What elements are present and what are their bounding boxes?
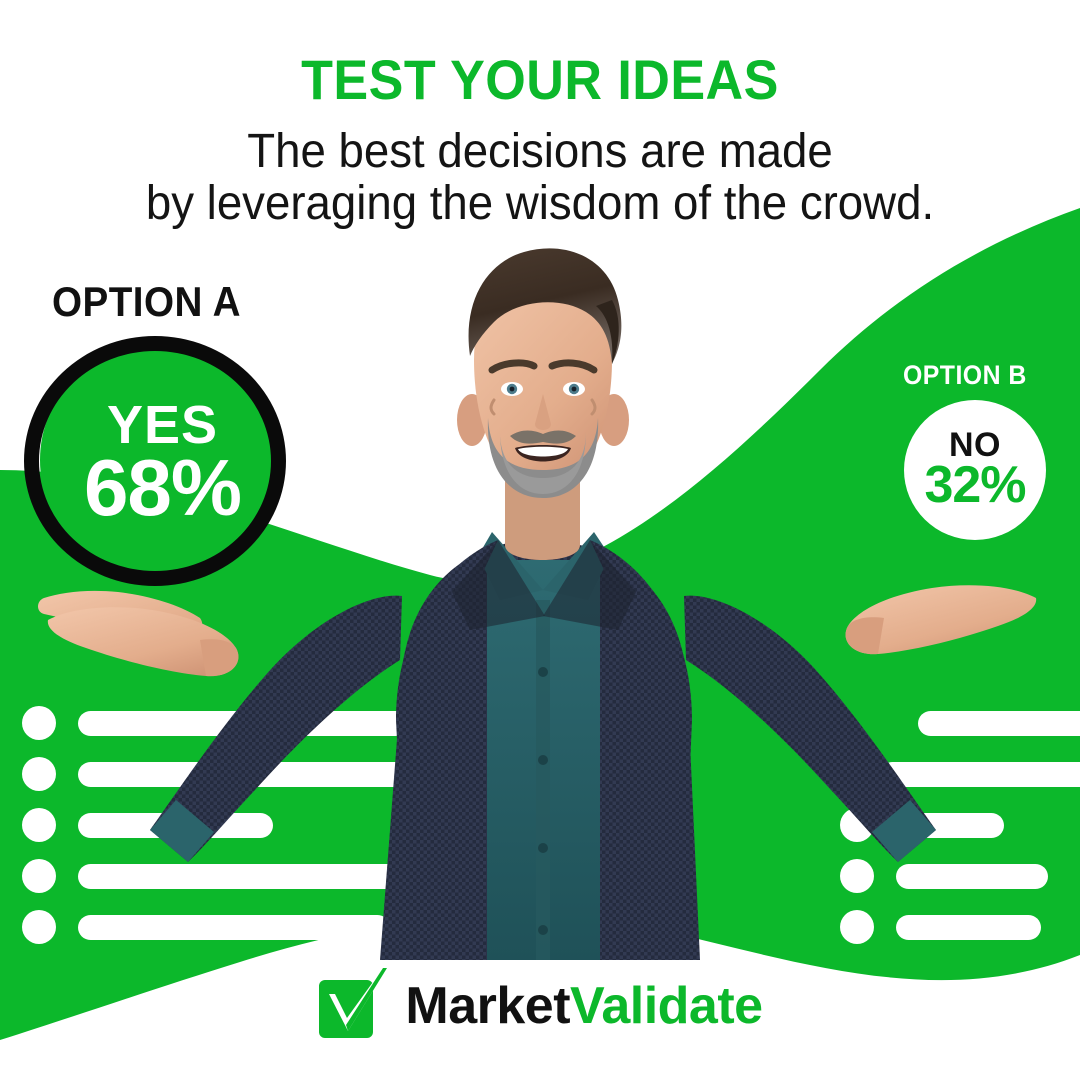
option-b-percent: 32%	[924, 461, 1025, 510]
placeholder-bar	[78, 762, 433, 787]
list-item	[840, 910, 1080, 944]
green-checkbox-check-icon	[317, 968, 389, 1044]
page-subtitle: The best decisions are made by leveragin…	[27, 126, 1053, 230]
option-b-label: OPTION B	[903, 360, 1027, 391]
list-item	[840, 706, 1080, 740]
placeholder-bar	[78, 915, 390, 940]
brand-name-part-2: Validate	[570, 977, 763, 1035]
list-item	[840, 808, 1080, 842]
placeholder-bullet-list-left	[22, 706, 478, 961]
brand-name-part-1: Market	[405, 977, 570, 1035]
subtitle-line-2: by leveraging the wisdom of the crowd.	[27, 178, 1053, 230]
placeholder-bar	[880, 762, 1080, 787]
option-a-label: OPTION A	[52, 278, 241, 326]
list-item	[22, 808, 478, 842]
placeholder-bar	[896, 864, 1048, 889]
option-b-result-disc: NO 32%	[904, 400, 1046, 540]
bullet-dot-icon	[22, 757, 56, 791]
bullet-dot-icon	[22, 706, 56, 740]
placeholder-bar	[918, 711, 1080, 736]
list-item	[22, 706, 478, 740]
bullet-dot-icon	[22, 859, 56, 893]
list-item	[840, 859, 1080, 893]
list-item	[840, 757, 1080, 791]
placeholder-bullet-list-right	[840, 706, 1080, 961]
placeholder-bar	[78, 711, 408, 736]
placeholder-bar	[896, 813, 1004, 838]
bullet-dot-icon	[840, 808, 874, 842]
brand-name: MarketValidate	[405, 980, 762, 1032]
bullet-dot-icon	[22, 808, 56, 842]
page-title: TEST YOUR IDEAS	[38, 52, 1042, 108]
bullet-dot-icon	[840, 910, 874, 944]
placeholder-bar	[78, 813, 273, 838]
poster-canvas: TEST YOUR IDEAS The best decisions are m…	[0, 0, 1080, 1080]
placeholder-bar	[896, 915, 1041, 940]
option-a-highlight-ring	[24, 336, 286, 586]
brand-logo[interactable]: MarketValidate	[0, 968, 1080, 1044]
list-item	[22, 859, 478, 893]
list-item	[22, 757, 478, 791]
bullet-dot-icon	[840, 859, 874, 893]
list-item	[22, 910, 478, 944]
subtitle-line-1: The best decisions are made	[27, 126, 1053, 178]
placeholder-bar	[78, 864, 478, 889]
bullet-dot-icon	[22, 910, 56, 944]
